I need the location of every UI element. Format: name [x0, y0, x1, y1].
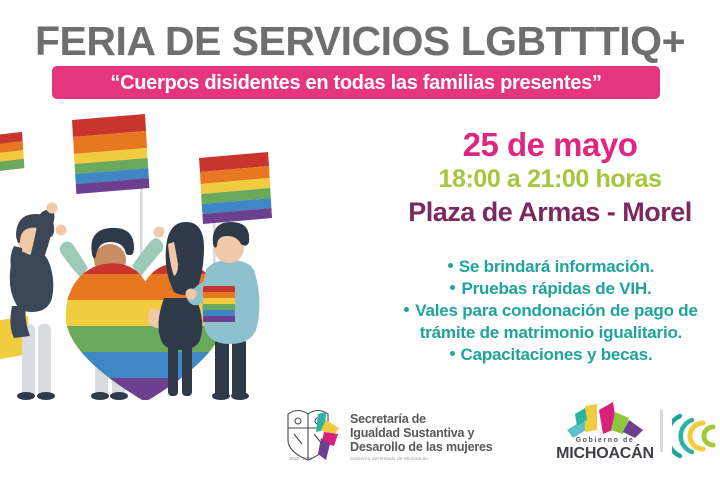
bullet-dot-icon	[450, 285, 455, 290]
secretaria-line-2: Igualdad Sustantiva y	[350, 426, 530, 440]
list-item: Capacitaciones y becas.	[352, 344, 720, 366]
event-time: 18:00 a 21:00 horas	[350, 165, 720, 194]
subtitle-text: “Cuerpos disidentes en todas las familia…	[110, 72, 601, 94]
svg-text:2018 - 2021: 2018 - 2021	[289, 456, 313, 461]
list-item-label: Pruebas rápidas de VIH.	[461, 279, 651, 298]
footer-logos: 2018 - 2021 Secretaría de Igualdad Susta…	[0, 396, 720, 480]
secretaria-line-1: Secretaría de	[350, 412, 530, 426]
bullet-dot-icon	[450, 351, 455, 356]
list-item: Vales para condonación de pago de	[352, 300, 720, 322]
rainbow-book	[203, 286, 235, 322]
secretaria-subline: Gobierno del Estado de Michoacán	[350, 456, 530, 462]
secretaria-logo: 2018 - 2021 Secretaría de Igualdad Susta…	[276, 402, 526, 472]
list-item-label: Capacitaciones y becas.	[461, 345, 653, 364]
secretaria-line-3: Desarollo de las mujeres	[350, 440, 530, 454]
event-date: 25 de mayo	[350, 126, 720, 164]
bullet-dot-icon	[448, 263, 453, 268]
event-place: Plaza de Armas - Morel	[350, 196, 720, 228]
person-left	[10, 203, 58, 401]
pride-flag-center	[72, 114, 149, 194]
page-title: FERIA DE SERVICIOS LGBTTTIQ+	[0, 18, 720, 64]
footer-divider	[660, 410, 663, 452]
subtitle-banner: “Cuerpos disidentes en todas las familia…	[52, 66, 660, 99]
list-item-label: Se brindará información.	[459, 257, 654, 276]
list-item-continuation: trámite de matrimonio igualitario.	[352, 322, 720, 344]
list-item-label: Vales para condonación de pago de	[415, 301, 697, 320]
list-item: Se brindará información.	[352, 256, 720, 278]
pride-group-illustration	[0, 108, 300, 398]
poster-canvas: FERIA DE SERVICIOS LGBTTTIQ+ “Cuerpos di…	[0, 0, 720, 480]
pride-flag-left-partial	[0, 132, 25, 174]
list-item: Pruebas rápidas de VIH.	[352, 278, 720, 300]
services-list: Se brindará información. Pruebas rápidas…	[352, 256, 720, 366]
secretaria-k-mark-icon	[312, 408, 346, 464]
bullet-dot-icon	[404, 307, 409, 312]
concentric-arcs-icon	[672, 406, 720, 466]
pride-flag-right	[199, 152, 272, 224]
michoacan-state-name: MICHOACÁN	[545, 444, 665, 463]
list-item-label: trámite de matrimonio igualitario.	[420, 323, 682, 342]
concentric-arcs-logo	[672, 406, 720, 466]
secretaria-text: Secretaría de Igualdad Sustantiva y Desa…	[350, 412, 530, 462]
michoacan-logo: Gobierno de MICHOACÁN	[545, 400, 665, 474]
event-info: 25 de mayo 18:00 a 21:00 horas Plaza de …	[350, 126, 720, 228]
